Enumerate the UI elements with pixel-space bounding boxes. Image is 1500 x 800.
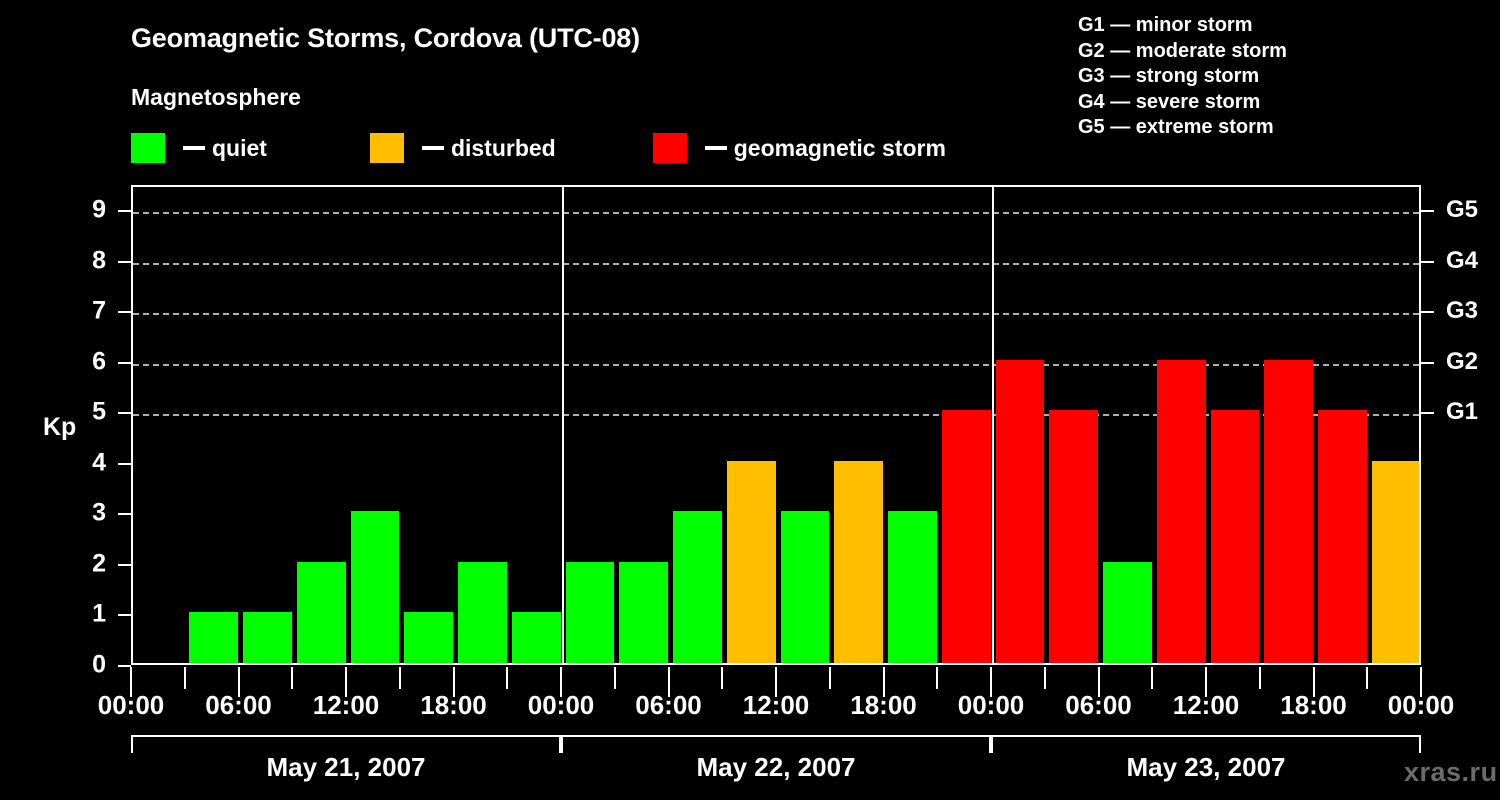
bar [673,511,722,663]
g-legend-row: G1 — minor storm [1078,13,1287,39]
bar [781,511,830,663]
y-tick-mark [118,614,131,616]
date-rail [131,735,561,753]
bar [942,410,991,663]
bar [996,360,1045,663]
bar [351,511,400,663]
x-tick-mark [936,667,938,689]
legend-label-storm: geomagnetic storm [734,135,946,162]
x-tick-mark [721,667,723,689]
gridline [133,263,1419,265]
g-tick-label: G1 [1446,398,1478,426]
y-tick-mark [118,513,131,515]
bar [1318,410,1367,663]
y-tick-mark [118,362,131,364]
g-tick-mark [1421,362,1434,364]
bar [1372,461,1419,663]
date-label: May 21, 2007 [266,752,425,783]
x-tick-label: 06:00 [205,690,272,721]
x-tick-mark [291,667,293,689]
g-legend-row: G5 — extreme storm [1078,115,1287,141]
x-tick-label: 00:00 [528,690,595,721]
bar [1264,360,1313,663]
y-tick-label: 6 [76,347,106,376]
date-rail [991,735,1421,753]
y-axis-label: Kp [43,413,76,442]
y-tick-mark [118,210,131,212]
x-tick-mark [829,667,831,689]
legend-dash-icon [183,146,205,150]
bar [1049,410,1098,663]
g-tick-mark [1421,210,1434,212]
bar [404,612,453,663]
date-label: May 23, 2007 [1126,752,1285,783]
y-tick-label: 1 [76,600,106,629]
x-tick-mark [1366,667,1368,689]
x-tick-mark [614,667,616,689]
bar [1103,562,1152,663]
legend-item-quiet: quiet [131,133,267,163]
legend-label-disturbed: disturbed [451,135,556,162]
x-tick-mark [399,667,401,689]
legend-item-storm: geomagnetic storm [653,133,946,163]
x-tick-label: 18:00 [1280,690,1347,721]
g-scale-legend: G1 — minor storm G2 — moderate storm G3 … [1078,13,1287,141]
legend-label-quiet: quiet [212,135,267,162]
g-tick-label: G2 [1446,348,1478,376]
date-label: May 22, 2007 [696,752,855,783]
x-tick-label: 12:00 [743,690,810,721]
x-tick-mark [184,667,186,689]
g-tick-mark [1421,412,1434,414]
y-tick-label: 9 [76,196,106,225]
disturbed-swatch [370,133,404,163]
x-tick-label: 00:00 [958,690,1025,721]
x-tick-mark [506,667,508,689]
g-tick-mark [1421,261,1434,263]
y-tick-mark [118,412,131,414]
y-tick-label: 8 [76,246,106,275]
color-legend: quiet disturbed geomagnetic storm [131,133,946,163]
legend-dash-icon [422,146,444,150]
bar [834,461,883,663]
bar [458,562,507,663]
x-tick-label: 12:00 [313,690,380,721]
y-tick-mark [118,463,131,465]
bar [189,612,238,663]
g-legend-row: G4 — severe storm [1078,90,1287,116]
page-title: Geomagnetic Storms, Cordova (UTC-08) [131,23,640,54]
x-tick-label: 06:00 [635,690,702,721]
storm-swatch [653,133,687,163]
y-tick-label: 0 [76,651,106,680]
x-tick-label: 06:00 [1065,690,1132,721]
g-tick-label: G5 [1446,196,1478,224]
y-tick-label: 2 [76,549,106,578]
plot-inner [133,187,1419,663]
bar [619,562,668,663]
g-legend-row: G2 — moderate storm [1078,39,1287,65]
x-tick-label: 18:00 [420,690,487,721]
gridline [133,212,1419,214]
bar [1157,360,1206,663]
gridline [133,313,1419,315]
legend-item-disturbed: disturbed [370,133,556,163]
quiet-swatch [131,133,165,163]
x-tick-label: 00:00 [1388,690,1455,721]
y-tick-label: 7 [76,297,106,326]
x-tick-mark [1044,667,1046,689]
g-tick-label: G4 [1446,247,1478,275]
y-tick-label: 3 [76,499,106,528]
x-tick-label: 12:00 [1173,690,1240,721]
bar [297,562,346,663]
y-tick-label: 5 [76,398,106,427]
date-rail [561,735,991,753]
x-tick-label: 18:00 [850,690,917,721]
g-tick-label: G3 [1446,297,1478,325]
x-tick-mark [1259,667,1261,689]
y-tick-mark [118,261,131,263]
bar [1211,410,1260,663]
legend-dash-icon [705,146,727,150]
chart-subtitle: Magnetosphere [131,84,301,111]
x-tick-mark [1151,667,1153,689]
gridline [133,364,1419,366]
bar [566,562,615,663]
y-tick-label: 4 [76,448,106,477]
day-separator [992,187,994,663]
day-separator [562,187,564,663]
watermark: xras.ru [1404,757,1498,788]
bar [727,461,776,663]
bar [888,511,937,663]
x-tick-label: 00:00 [98,690,165,721]
plot-area [131,185,1421,665]
bar [243,612,292,663]
y-tick-mark [118,311,131,313]
g-legend-row: G3 — strong storm [1078,64,1287,90]
g-tick-mark [1421,311,1434,313]
bar [512,612,561,663]
y-tick-mark [118,564,131,566]
